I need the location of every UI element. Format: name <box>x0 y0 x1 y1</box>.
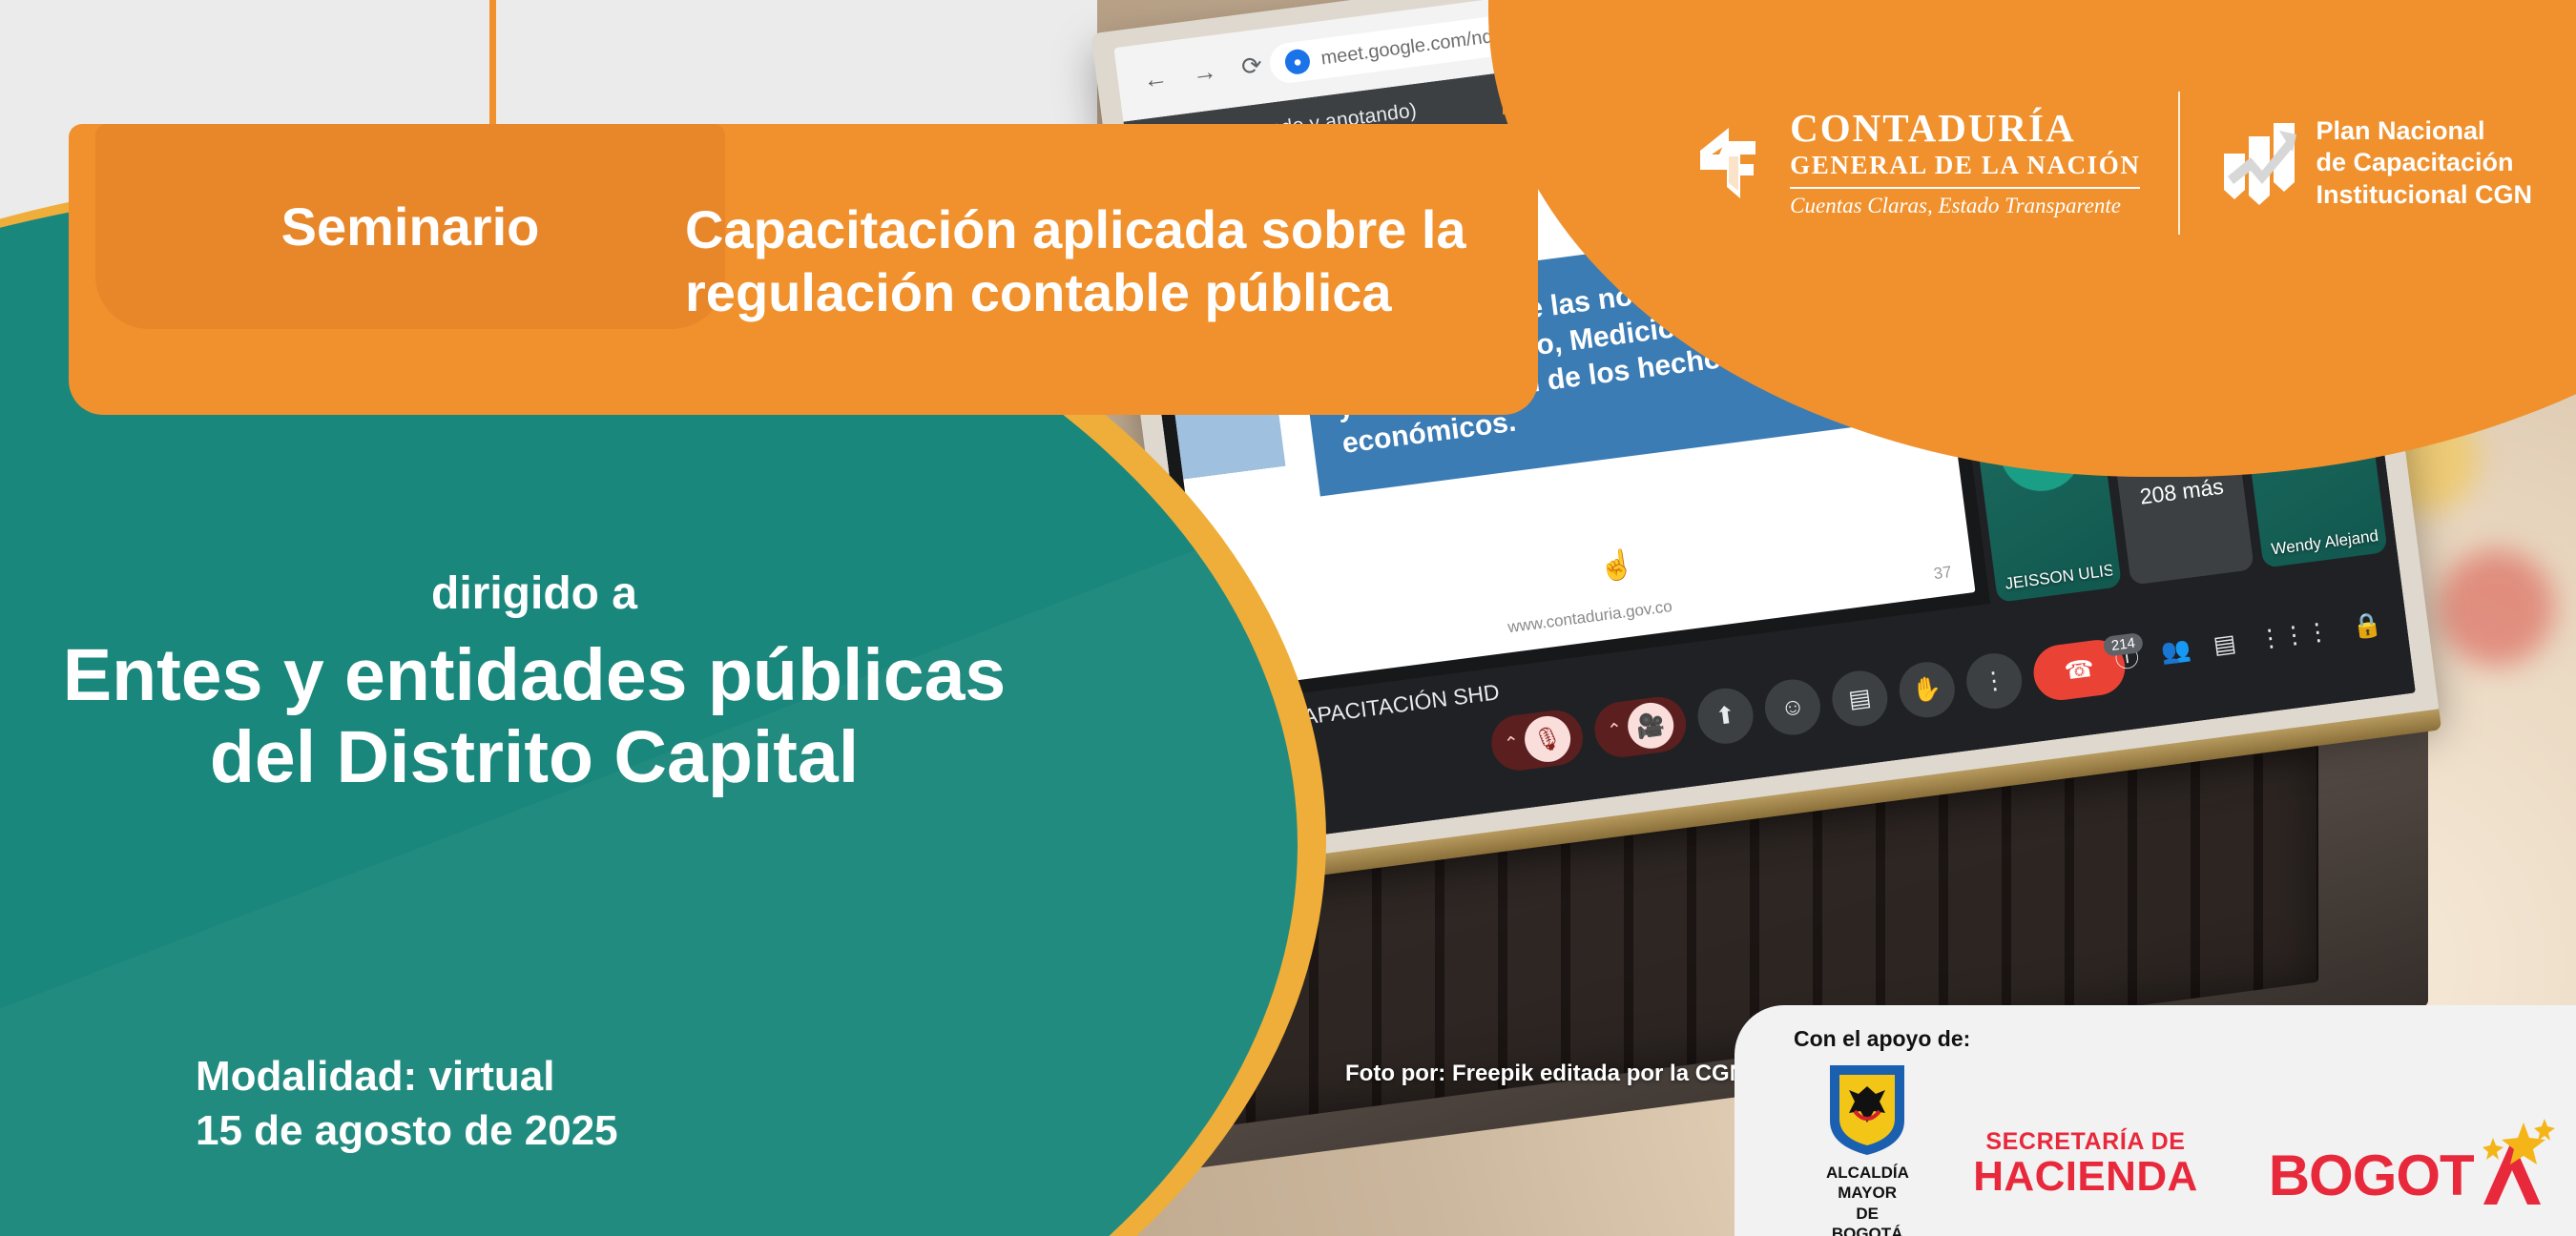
audience-line-2: del Distrito Capital <box>0 716 1069 798</box>
orange-vertical-line-secondary <box>1503 0 1509 114</box>
browser-nav: ← → ⟳ <box>1141 51 1264 95</box>
back-icon[interactable]: ← <box>1141 63 1170 95</box>
mic-off-icon[interactable]: 🎙 <box>1522 713 1573 765</box>
cgn-wordmark: CONTADURÍA GENERAL DE LA NACIÓN Cuentas … <box>1790 109 2140 218</box>
cgn-line-1: CONTADURÍA <box>1790 109 2140 148</box>
slide-page-number: 37 <box>1933 563 1953 584</box>
pnc-logo: Plan Nacional de Capacitación Institucio… <box>2218 115 2532 211</box>
header-logos: CONTADURÍA GENERAL DE LA NACIÓN Cuentas … <box>1696 92 2532 235</box>
sponsor-panel: Con el apoyo de: ALCALDÍA MAYOR DE BOGOT… <box>1735 1005 2576 1236</box>
meet-status-icons: ⓘ 👥 214 ▤ ⋮⋮⋮ 🔒 <box>2112 607 2383 675</box>
title-line-1: Capacitación aplicada sobre la <box>685 198 1525 261</box>
alcaldia-caption: ALCALDÍA MAYOR DE BOGOTÁ D.C. <box>1826 1163 1908 1236</box>
hacienda-line-1: SECRETARÍA DE <box>1973 1128 2197 1156</box>
activities-icon[interactable]: ⋮⋮⋮ <box>2256 617 2331 654</box>
pnc-line-3: Institucional CGN <box>2316 179 2532 211</box>
sponsor-row: ALCALDÍA MAYOR DE BOGOTÁ D.C. SECRETARÍA… <box>1794 1061 2547 1236</box>
bar-chart-arrow-icon <box>2218 119 2300 207</box>
hacienda-logo: SECRETARÍA DE HACIENDA <box>1941 1128 2230 1198</box>
chat-icon[interactable]: ▤ <box>2212 628 2237 660</box>
camera-control[interactable]: ⌃ 🎥 <box>1591 693 1690 760</box>
page-title: Capacitación aplicada sobre la regulació… <box>685 198 1525 324</box>
cgn-logo: CONTADURÍA GENERAL DE LA NACIÓN Cuentas … <box>1696 109 2140 218</box>
audience-heading: Entes y entidades públicas del Distrito … <box>0 634 1069 798</box>
pnc-line-2: de Capacitación <box>2316 147 2532 178</box>
logo-divider <box>2178 92 2180 235</box>
hacienda-line-2: HACIENDA <box>1973 1156 2197 1198</box>
cgn-line-2: GENERAL DE LA NACIÓN <box>1790 151 2140 180</box>
cgn-divider <box>1790 187 2140 189</box>
bogota-wordmark: BOGOT <box>2269 1143 2474 1208</box>
captions-icon[interactable]: ▤ <box>1829 668 1891 730</box>
reactions-icon[interactable]: ☺ <box>1761 676 1823 738</box>
camera-off-icon[interactable]: 🎥 <box>1625 700 1676 752</box>
bogota-star-a-icon <box>2474 1117 2556 1208</box>
more-options-icon[interactable]: ⋮ <box>1963 650 2025 712</box>
cgn-emblem-icon <box>1696 122 1773 204</box>
people-icon[interactable]: 👥 <box>2160 635 2193 667</box>
chevron-up-icon[interactable]: ⌃ <box>1606 718 1624 742</box>
bogota-coat-of-arms-icon <box>1826 1061 1908 1157</box>
alcaldia-caption-1: ALCALDÍA MAYOR <box>1826 1163 1908 1204</box>
mic-control[interactable]: ⌃ 🎙 <box>1488 707 1587 773</box>
meet-controls: ⌃ 🎙 ⌃ 🎥 ⬆ ☺ ▤ ✋ ⋮ ☎ <box>1488 637 2129 774</box>
hacienda-wordmark: SECRETARÍA DE HACIENDA <box>1973 1128 2197 1198</box>
host-lock-icon[interactable]: 🔒 <box>2351 610 2384 642</box>
bogota-logo: BOGOT <box>2231 1117 2573 1208</box>
reload-icon[interactable]: ⟳ <box>1239 51 1264 83</box>
modality-text: Modalidad: virtual <box>196 1049 618 1103</box>
seminario-chip: Seminario <box>95 124 725 329</box>
pnc-wordmark: Plan Nacional de Capacitación Institucio… <box>2316 115 2532 211</box>
sponsor-title: Con el apoyo de: <box>1794 1026 2547 1052</box>
pnc-line-1: Plan Nacional <box>2316 115 2532 147</box>
orange-vertical-line <box>489 0 496 129</box>
mic-site-icon: ● <box>1283 48 1311 75</box>
audience-line-1: Entes y entidades públicas <box>0 634 1069 716</box>
present-screen-icon[interactable]: ⬆ <box>1694 685 1756 747</box>
event-details: Modalidad: virtual 15 de agosto de 2025 <box>196 1049 618 1158</box>
raise-hand-icon[interactable]: ✋ <box>1896 659 1958 721</box>
alcaldia-logo: ALCALDÍA MAYOR DE BOGOTÁ D.C. <box>1794 1061 1941 1236</box>
banner-canvas: ← → ⟳ ● meet.google.com/ndf-uuf?authuser… <box>0 0 2576 1236</box>
overflow-count: 208 más <box>2118 471 2245 513</box>
cgn-tagline: Cuentas Claras, Estado Transparente <box>1790 194 2140 218</box>
chevron-up-icon[interactable]: ⌃ <box>1503 731 1521 755</box>
seminario-label: Seminario <box>281 196 540 257</box>
photo-credit: Foto por: Freepik editada por la CGN <box>1345 1061 1746 1087</box>
alcaldia-caption-2: DE BOGOTÁ D.C. <box>1826 1204 1908 1236</box>
pointer-cursor-icon: ☝ <box>1597 547 1637 586</box>
forward-icon[interactable]: → <box>1191 56 1219 89</box>
date-text: 15 de agosto de 2025 <box>196 1103 618 1158</box>
audience-kicker: dirigido a <box>0 567 1069 620</box>
title-line-2: regulación contable pública <box>685 261 1525 324</box>
